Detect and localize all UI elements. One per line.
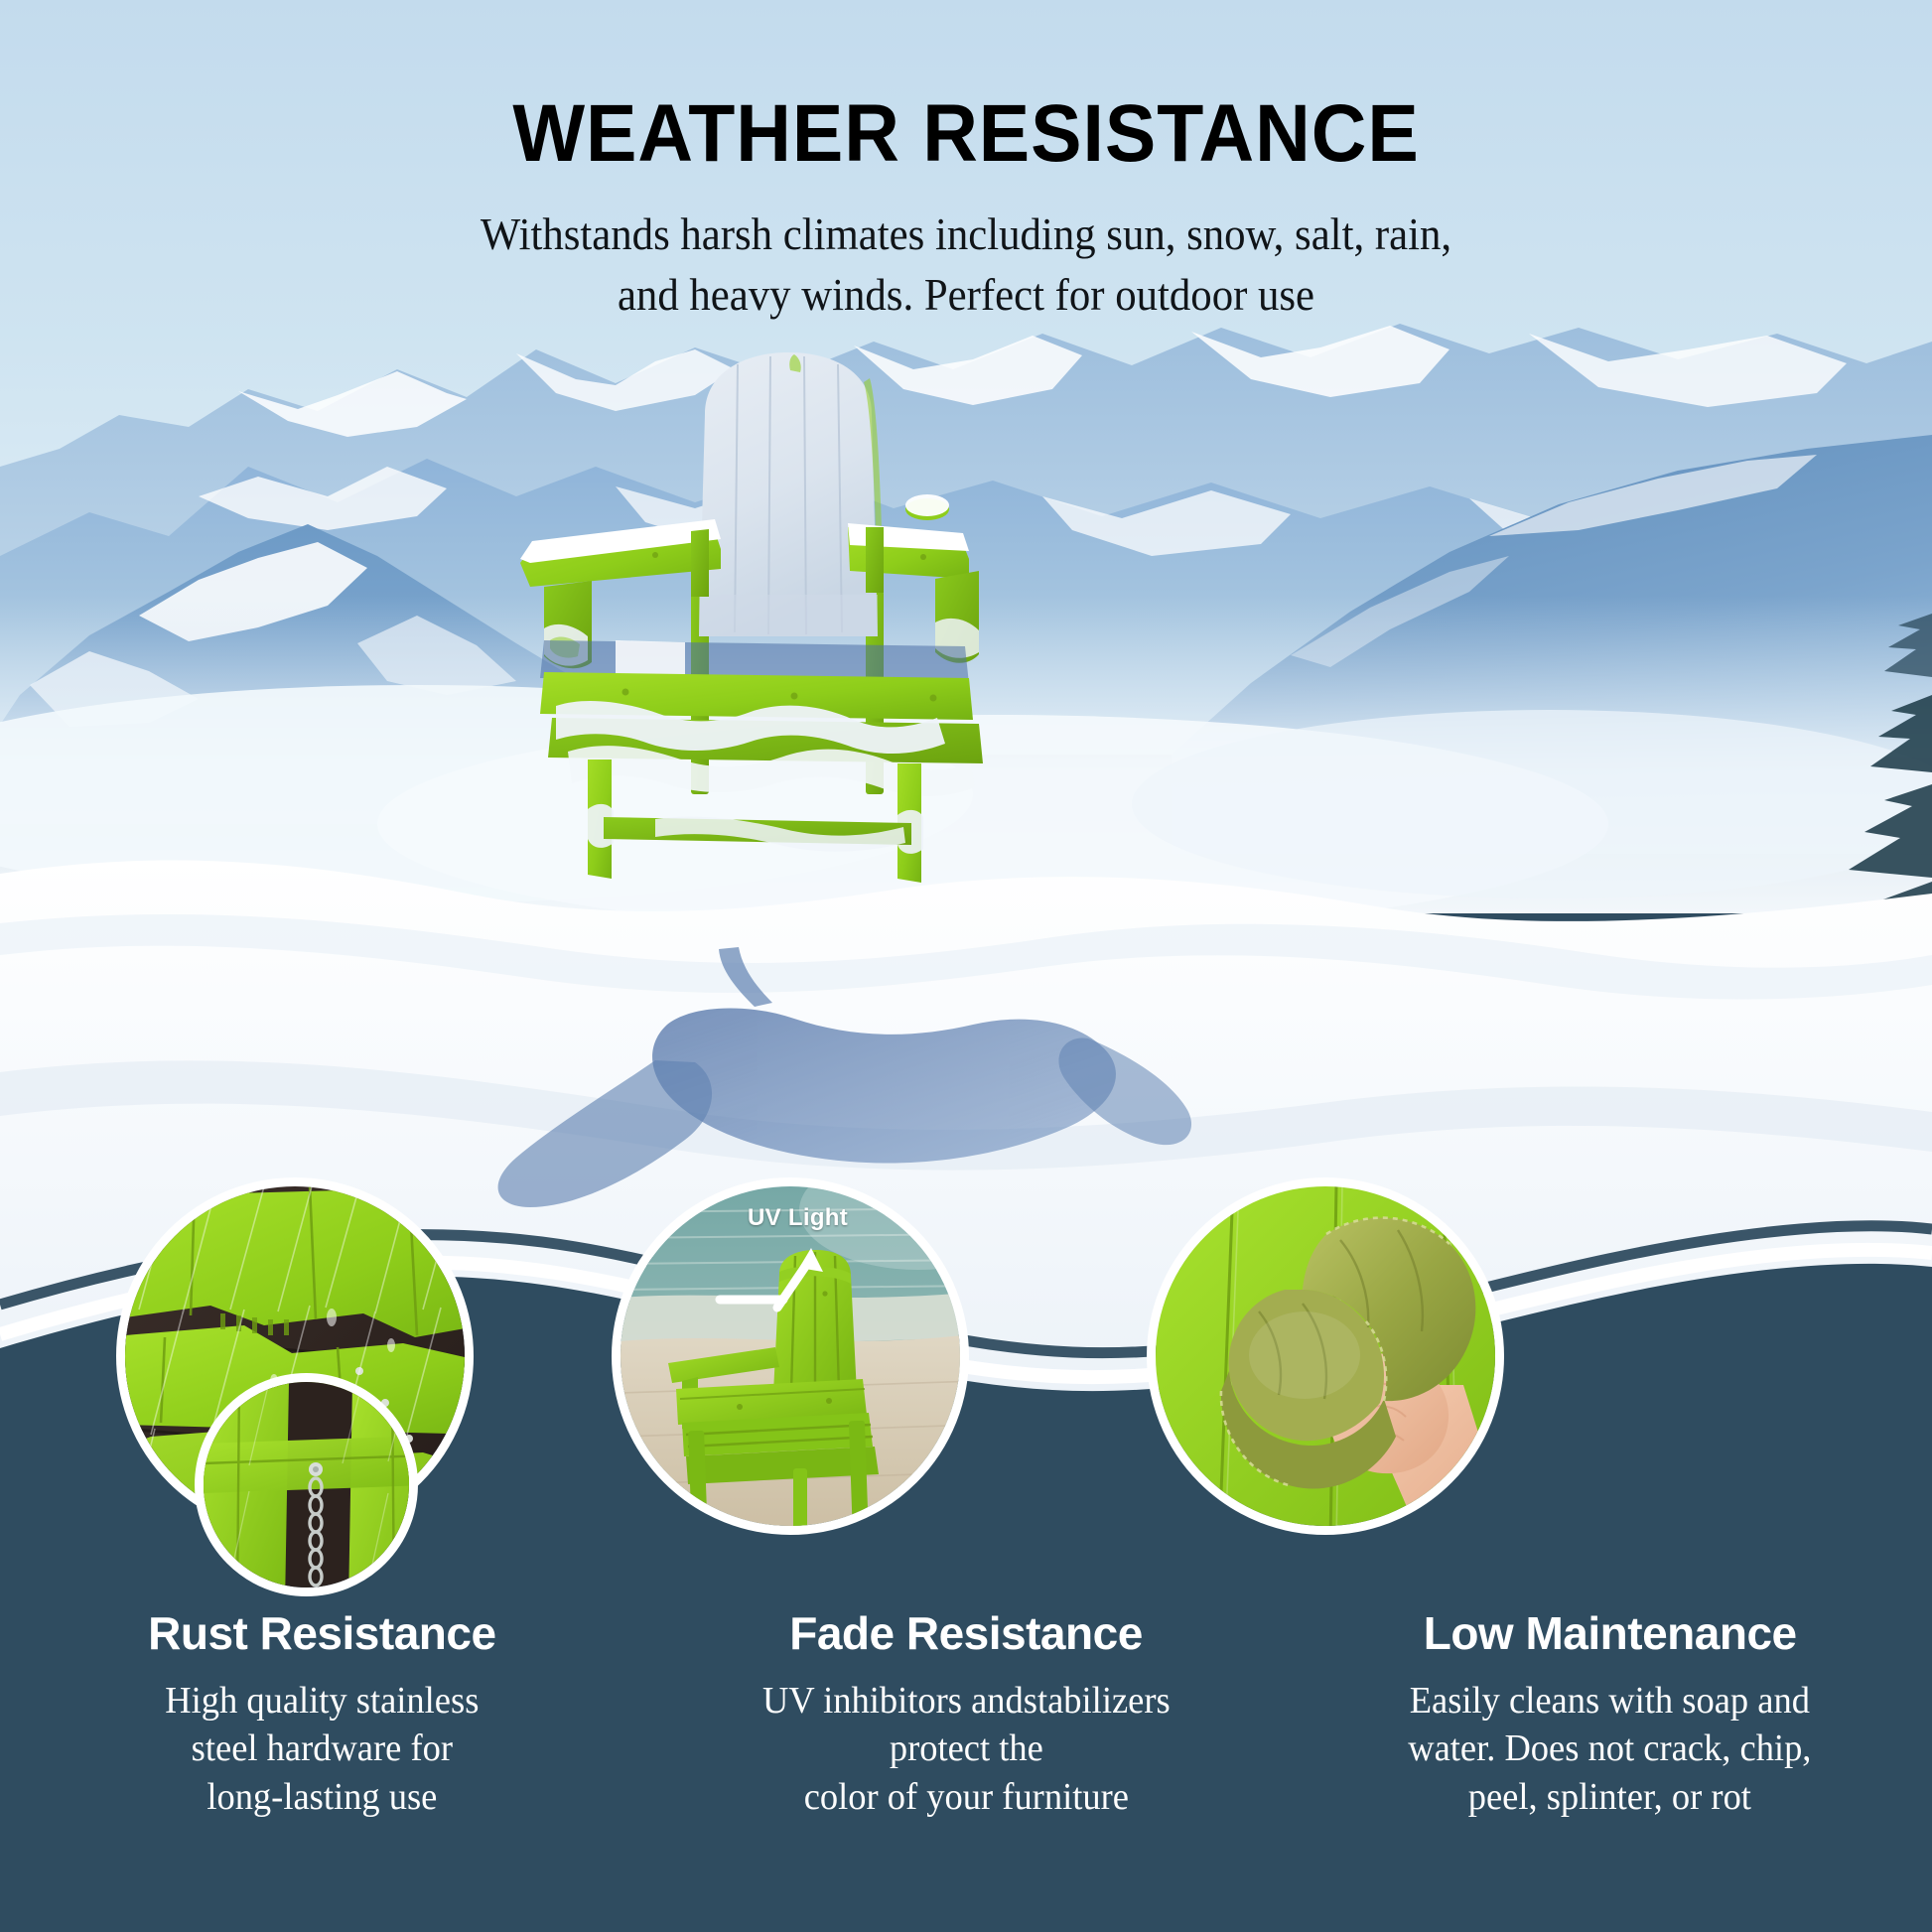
feature-title-rust: Rust Resistance xyxy=(22,1608,622,1659)
feature-desc-rust-line-3: long-lasting use xyxy=(207,1776,437,1818)
feature-desc-fade-line-2: protect the xyxy=(890,1727,1043,1769)
feature-image-rust-hardware-inset[interactable] xyxy=(195,1373,418,1596)
feature-desc-rust-line-1: High quality stainless xyxy=(165,1680,479,1722)
weather-resistance-infographic: WEATHER RESISTANCE Withstands harsh clim… xyxy=(0,0,1932,1932)
subtitle-line-2: and heavy winds. Perfect for outdoor use xyxy=(618,269,1314,320)
feature-low-maintenance: Low Maintenance Easily cleans with soap … xyxy=(1288,1608,1932,1932)
subtitle-line-1: Withstands harsh climates including sun,… xyxy=(481,208,1451,259)
feature-desc-fade: UV inhibitors andstabilizers protect the… xyxy=(678,1659,1254,1822)
uv-light-arrow xyxy=(712,1238,831,1317)
feature-desc-rust-line-2: steel hardware for xyxy=(192,1727,453,1769)
page-subtitle: Withstands harsh climates including sun,… xyxy=(68,175,1864,325)
feature-title-maintenance: Low Maintenance xyxy=(1310,1608,1910,1659)
page-title: WEATHER RESISTANCE xyxy=(58,0,1873,175)
uv-light-label: UV Light xyxy=(748,1204,848,1232)
feature-desc-fade-line-1: UV inhibitors andstabilizers xyxy=(762,1680,1171,1722)
feature-desc-rust: High quality stainless steel hardware fo… xyxy=(34,1659,610,1822)
feature-desc-fade-line-3: color of your furniture xyxy=(803,1776,1128,1818)
feature-fade-resistance: Fade Resistance UV inhibitors andstabili… xyxy=(644,1608,1289,1932)
header-block: WEATHER RESISTANCE Withstands harsh clim… xyxy=(0,0,1932,325)
feature-rust-resistance: Rust Resistance High quality stainless s… xyxy=(0,1608,644,1932)
feature-text-row: Rust Resistance High quality stainless s… xyxy=(0,1608,1932,1932)
feature-title-fade: Fade Resistance xyxy=(666,1608,1267,1659)
feature-desc-maintenance-line-3: peel, splinter, or rot xyxy=(1468,1776,1751,1818)
feature-desc-maintenance-line-2: water. Does not crack, chip, xyxy=(1409,1727,1812,1769)
feature-image-fade-resistance[interactable]: UV Light xyxy=(612,1177,969,1535)
adirondack-chair-hero xyxy=(496,343,1052,898)
feature-desc-maintenance-line-1: Easily cleans with soap and xyxy=(1410,1680,1810,1722)
feature-desc-maintenance: Easily cleans with soap and water. Does … xyxy=(1321,1659,1897,1822)
feature-image-low-maintenance[interactable] xyxy=(1147,1177,1504,1535)
